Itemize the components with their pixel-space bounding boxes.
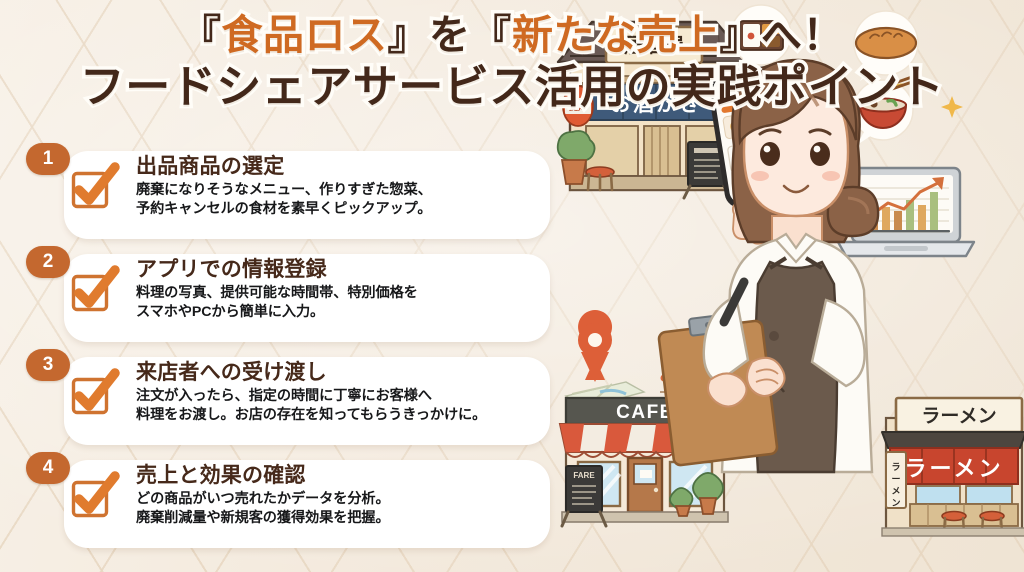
svg-text:ン: ン <box>891 498 900 509</box>
cafe-sign-text: CAFE <box>616 402 674 423</box>
checkbox-checked-icon <box>70 268 116 314</box>
step-number-badge: 2 <box>26 246 70 278</box>
step-number-badge: 3 <box>26 349 70 381</box>
svg-text:メ: メ <box>891 486 900 497</box>
step-body: 廃棄になりそうなメニュー、作りすぎた惣菜、 予約キャンセルの食材を素早くピックア… <box>136 181 546 218</box>
step-body: どの商品がいつ売れたかデータを分析。 廃棄削減量や新規客の獲得効果を把握。 <box>136 490 546 527</box>
title-accent-1: 食品ロス <box>222 12 388 58</box>
step-title: アプリでの情報登録 <box>136 258 546 283</box>
cafe-board-text: FARE <box>573 471 595 480</box>
ramen-shop-illustration: ラーメン ラーメン ラ ー メ ン <box>882 398 1024 536</box>
step-title: 出品商品の選定 <box>136 155 546 180</box>
ramen-banner-text: ラ <box>891 462 900 473</box>
step-body-line-1: 注文が入ったら、指定の時間に丁寧にお客様へ <box>136 387 546 406</box>
ramen-noren-text: ラーメン <box>904 457 1003 482</box>
svg-text:ー: ー <box>891 475 900 485</box>
title-accent-2: 新たな売上 <box>512 12 720 58</box>
step-text: アプリでの情報登録 料理の写真、提供可能な時間帯、特別価格を スマホやPCから簡… <box>136 258 546 321</box>
title-line-2: フードシェアサービス活用の実践ポイント <box>0 63 1024 111</box>
step-number-badge: 1 <box>26 143 70 175</box>
checkbox-checked-icon <box>70 165 116 211</box>
step-text: 来店者への受け渡し 注文が入ったら、指定の時間に丁寧にお客様へ 料理をお渡し。お… <box>136 361 546 424</box>
page-title: 『食品ロス』を『新たな売上』へ！ フードシェアサービス活用の実践ポイント <box>0 14 1024 111</box>
step-text: 売上と効果の確認 どの商品がいつ売れたかデータを分析。 廃棄削減量や新規客の獲得… <box>136 464 546 527</box>
step-body-line-2: 料理をお渡し。お店の存在を知ってもらうきっかけに。 <box>136 406 546 425</box>
step-body-line-1: どの商品がいつ売れたかデータを分析。 <box>136 490 546 509</box>
step-body: 料理の写真、提供可能な時間帯、特別価格を スマホやPCから簡単に入力。 <box>136 284 546 321</box>
steps-list: 1 出品商品の選定 廃棄になりそうなメニュー、作りすぎた惣菜、 予約キャンセルの… <box>26 143 550 555</box>
ramen-top-sign-text: ラーメン <box>921 405 996 427</box>
step-title: 売上と効果の確認 <box>136 464 546 489</box>
list-item[interactable]: 3 来店者への受け渡し 注文が入ったら、指定の時間に丁寧にお客様へ 料理をお渡し… <box>26 349 550 450</box>
step-number-badge: 4 <box>26 452 70 484</box>
list-item[interactable]: 1 出品商品の選定 廃棄になりそうなメニュー、作りすぎた惣菜、 予約キャンセルの… <box>26 143 550 244</box>
step-text: 出品商品の選定 廃棄になりそうなメニュー、作りすぎた惣菜、 予約キャンセルの食材… <box>136 155 546 218</box>
title-tail: 』へ！ <box>720 12 845 58</box>
list-item[interactable]: 4 売上と効果の確認 どの商品がいつ売れたかデータを分析。 廃棄削減量や新規客の… <box>26 452 550 553</box>
step-body-line-2: 廃棄削減量や新規客の獲得効果を把握。 <box>136 509 546 528</box>
step-body: 注文が入ったら、指定の時間に丁寧にお客様へ 料理をお渡し。お店の存在を知ってもら… <box>136 387 546 424</box>
checkbox-checked-icon <box>70 371 116 417</box>
infographic-canvas: 『食品ロス』を『新たな売上』へ！ フードシェアサービス活用の実践ポイント 1 出… <box>0 0 1024 572</box>
title-bracket-open-1: 『 <box>180 12 222 58</box>
checkbox-checked-icon <box>70 474 116 520</box>
step-body-line-1: 廃棄になりそうなメニュー、作りすぎた惣菜、 <box>136 181 546 200</box>
map-pin-icon <box>566 310 644 408</box>
list-item[interactable]: 2 アプリでの情報登録 料理の写真、提供可能な時間帯、特別価格を スマホやPCか… <box>26 246 550 347</box>
title-line-1: 『食品ロス』を『新たな売上』へ！ <box>0 14 1024 57</box>
title-middle: 』を『 <box>388 12 513 58</box>
step-body-line-1: 料理の写真、提供可能な時間帯、特別価格を <box>136 284 546 303</box>
step-body-line-2: スマホやPCから簡単に入力。 <box>136 303 546 322</box>
step-body-line-2: 予約キャンセルの食材を素早くピックアップ。 <box>136 200 546 219</box>
step-title: 来店者への受け渡し <box>136 361 546 386</box>
